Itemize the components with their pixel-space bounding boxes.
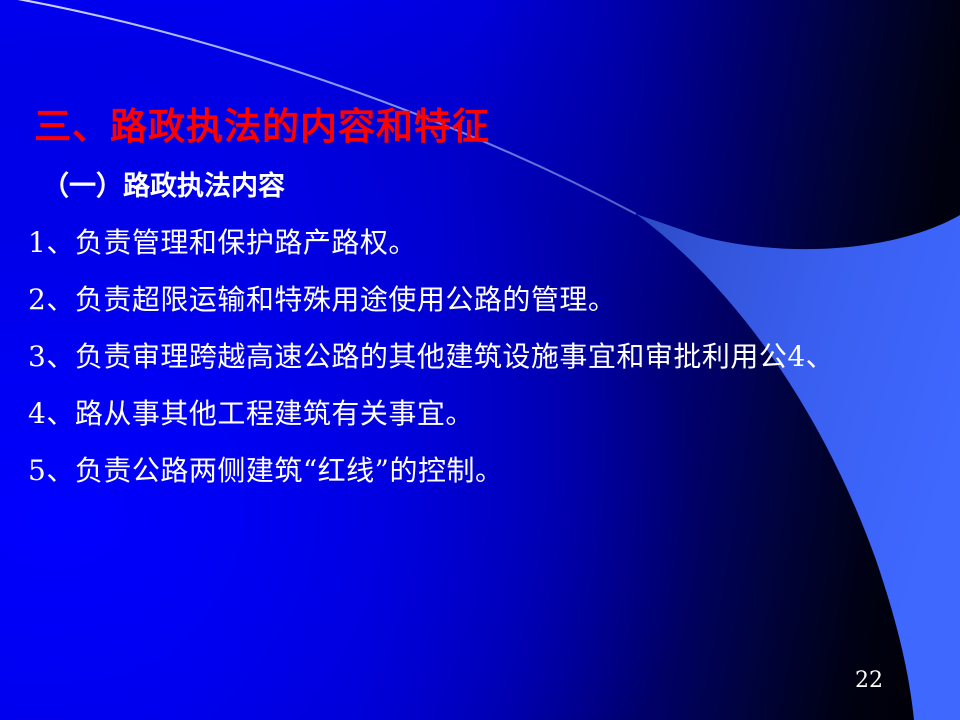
list-item: 3、负责审理跨越高速公路的其他建筑设施事宜和审批利用公4、 — [28, 342, 834, 373]
page-number: 22 — [855, 668, 883, 693]
slide-content: 三、路政执法的内容和特征 （一）路政执法内容 1、负责管理和保护路产路权。 2、… — [0, 0, 960, 720]
list-item: 2、负责超限运输和特殊用途使用公路的管理。 — [28, 285, 616, 316]
page-title: 三、路政执法的内容和特征 — [34, 106, 490, 147]
list-item: 4、路从事其他工程建筑有关事宜。 — [28, 399, 474, 430]
list-item: 5、负责公路两侧建筑“红线”的控制。 — [28, 456, 503, 487]
slide-canvas: 三、路政执法的内容和特征 （一）路政执法内容 1、负责管理和保护路产路权。 2、… — [0, 0, 960, 720]
section-subtitle: （一）路政执法内容 — [42, 172, 285, 202]
list-item: 1、负责管理和保护路产路权。 — [28, 228, 417, 259]
